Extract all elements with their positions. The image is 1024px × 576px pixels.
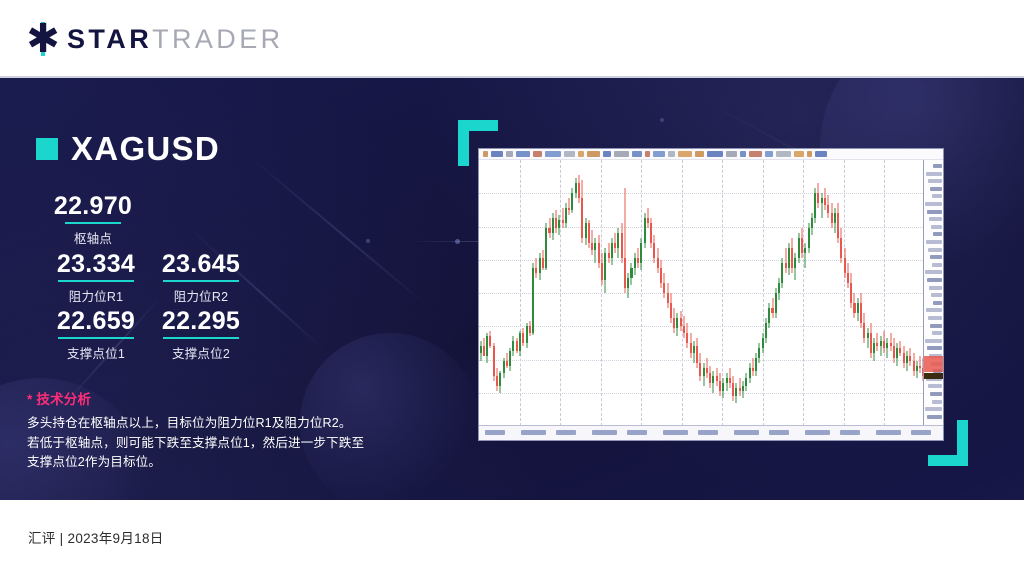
candlestick xyxy=(709,160,711,426)
candlestick xyxy=(814,160,816,426)
toolbar-chip[interactable] xyxy=(632,151,642,157)
candle-body xyxy=(686,333,688,343)
candle-body xyxy=(716,376,718,381)
candle-body xyxy=(876,343,878,346)
toolbar-chip[interactable] xyxy=(776,151,791,157)
candle-body xyxy=(903,353,905,363)
price-axis-tick xyxy=(927,278,942,282)
candlestick xyxy=(506,160,508,426)
candlestick xyxy=(690,160,692,426)
toolbar-chip[interactable] xyxy=(564,151,575,157)
level-label: 阻力位R1 xyxy=(35,286,157,305)
candle-body xyxy=(798,238,800,258)
candlestick xyxy=(834,160,836,426)
level-pivot: 22.970 枢轴点 xyxy=(35,193,151,247)
candle-body xyxy=(762,338,764,348)
candle-body xyxy=(630,268,632,278)
candle-body xyxy=(653,243,655,258)
toolbar-chip[interactable] xyxy=(545,151,561,157)
price-axis-tick xyxy=(925,270,942,274)
candlestick xyxy=(712,160,714,426)
candle-body xyxy=(752,368,754,371)
candle-body xyxy=(571,193,573,211)
candle-body xyxy=(489,336,491,346)
candlestick xyxy=(919,160,921,426)
candlestick xyxy=(831,160,833,426)
candle-body xyxy=(883,341,885,349)
candle-body xyxy=(909,356,911,361)
candle-body xyxy=(680,318,682,326)
candlestick xyxy=(735,160,737,426)
time-axis-label xyxy=(521,430,546,435)
candlestick xyxy=(808,160,810,426)
candlestick xyxy=(899,160,901,426)
candle-body xyxy=(637,258,639,263)
candlestick xyxy=(893,160,895,426)
candlestick xyxy=(732,160,734,426)
candlestick xyxy=(775,160,777,426)
candlestick xyxy=(680,160,682,426)
candle-body xyxy=(676,318,678,328)
candlestick xyxy=(788,160,790,426)
candlestick xyxy=(522,160,524,426)
candle-body xyxy=(827,205,829,213)
candle-body xyxy=(709,373,711,383)
toolbar-chip[interactable] xyxy=(491,151,503,157)
candlestick xyxy=(853,160,855,426)
candle-body xyxy=(808,228,810,248)
candle-body xyxy=(565,208,567,223)
level-resistance1: 23.334 阻力位R1 xyxy=(35,251,157,305)
candle-body xyxy=(765,323,767,338)
candlestick xyxy=(811,160,813,426)
candle-body xyxy=(699,363,701,376)
price-axis-tick xyxy=(925,202,942,206)
price-axis-highlight xyxy=(923,356,943,372)
candlestick xyxy=(552,160,554,426)
candle-body xyxy=(483,346,485,356)
time-axis-label xyxy=(556,430,576,435)
candlestick xyxy=(598,160,600,426)
level-underline xyxy=(58,280,134,282)
price-axis-tick xyxy=(928,248,942,252)
candle-wick xyxy=(562,208,563,228)
candle-body xyxy=(526,326,528,344)
chart-toolbar[interactable] xyxy=(479,149,943,160)
candle-wick xyxy=(920,356,921,374)
toolbar-chip[interactable] xyxy=(707,151,723,157)
candle-body xyxy=(516,341,518,351)
candlestick xyxy=(857,160,859,426)
candle-body xyxy=(880,341,882,346)
candle-wick xyxy=(595,238,596,263)
candlestick xyxy=(578,160,580,426)
candle-body xyxy=(886,343,888,348)
candle-body xyxy=(778,283,780,293)
toolbar-chip[interactable] xyxy=(645,151,650,157)
level-support2: 22.295 支撑点位2 xyxy=(140,308,262,362)
candlestick xyxy=(844,160,846,426)
candle-body xyxy=(522,333,524,343)
candle-body xyxy=(850,283,852,303)
brand-name-light: TRADER xyxy=(152,24,283,54)
toolbar-chip[interactable] xyxy=(794,151,804,157)
candlestick xyxy=(716,160,718,426)
candle-body xyxy=(683,326,685,334)
candlestick xyxy=(644,160,646,426)
candle-body xyxy=(545,228,547,268)
candle-body xyxy=(558,220,560,228)
candle-body xyxy=(749,368,751,378)
candle-body xyxy=(726,378,728,383)
candlestick xyxy=(768,160,770,426)
candle-body xyxy=(506,361,508,366)
candlestick xyxy=(683,160,685,426)
candle-body xyxy=(834,213,836,223)
candle-wick xyxy=(785,248,786,273)
candle-body xyxy=(532,268,534,333)
candlestick xyxy=(765,160,767,426)
candle-body xyxy=(493,346,495,376)
candle-body xyxy=(519,333,521,351)
price-axis-tick xyxy=(930,324,942,328)
candle-body xyxy=(853,303,855,313)
candlestick xyxy=(676,160,678,426)
candlestick xyxy=(693,160,695,426)
price-axis-tick xyxy=(926,172,942,176)
corner-bracket-bottom-right-horizontal xyxy=(928,455,968,466)
price-axis-tick xyxy=(933,232,942,236)
candle-body xyxy=(627,278,629,288)
candle-body xyxy=(598,243,600,263)
candle-wick xyxy=(739,378,740,396)
price-axis-tick xyxy=(927,415,942,419)
candle-body xyxy=(821,198,823,203)
candlestick xyxy=(739,160,741,426)
candle-wick xyxy=(887,338,888,358)
candle-body xyxy=(535,268,537,273)
candle-body xyxy=(794,258,796,268)
footer-text: 汇评 | 2023年9月18日 xyxy=(28,527,164,547)
candle-body xyxy=(509,351,511,366)
candle-body xyxy=(831,213,833,223)
candlestick xyxy=(548,160,550,426)
price-axis-tick xyxy=(925,407,942,411)
analysis-heading: * 技术分析 xyxy=(27,388,417,408)
toolbar-chip[interactable] xyxy=(678,151,692,157)
candlestick xyxy=(703,160,705,426)
candlestick xyxy=(706,160,708,426)
candle-body xyxy=(755,358,757,371)
candle-body xyxy=(693,346,695,354)
candlestick xyxy=(699,160,701,426)
candle-body xyxy=(899,348,901,353)
candle-body xyxy=(857,303,859,313)
candlestick xyxy=(778,160,780,426)
candlestick xyxy=(870,160,872,426)
toolbar-chip[interactable] xyxy=(614,151,629,157)
level-resistance2: 23.645 阻力位R2 xyxy=(140,251,262,305)
time-axis-label xyxy=(592,430,617,435)
candle-body xyxy=(837,213,839,238)
candle-body xyxy=(771,308,773,313)
candlestick xyxy=(624,160,626,426)
candlestick xyxy=(896,160,898,426)
candlestick xyxy=(667,160,669,426)
candle-body xyxy=(634,258,636,268)
candlestick xyxy=(581,160,583,426)
toolbar-chip[interactable] xyxy=(578,151,584,157)
poster-root: ✱ STARTRADER XAGUSD 22.9 xyxy=(0,0,1024,576)
candle-body xyxy=(644,218,646,243)
toolbar-chip[interactable] xyxy=(653,151,665,157)
price-axis-tick xyxy=(928,316,942,320)
level-label: 阻力位R2 xyxy=(140,286,262,305)
candle-body xyxy=(667,293,669,303)
candle-body xyxy=(735,388,737,396)
candle-body xyxy=(722,383,724,391)
toolbar-chip[interactable] xyxy=(815,151,827,157)
candle-body xyxy=(529,326,531,334)
candle-body xyxy=(906,356,908,364)
candlestick xyxy=(588,160,590,426)
candlestick xyxy=(791,160,793,426)
price-axis-tick xyxy=(927,210,942,214)
candlestick xyxy=(526,160,528,426)
candle-body xyxy=(775,293,777,313)
candle-body xyxy=(719,381,721,391)
candlestick xyxy=(558,160,560,426)
level-value: 22.970 xyxy=(35,193,151,219)
candlestick xyxy=(650,160,652,426)
price-axis[interactable] xyxy=(923,160,943,426)
level-value: 23.645 xyxy=(140,251,262,277)
candlestick-plot[interactable] xyxy=(479,160,923,426)
chart-plot-area[interactable] xyxy=(479,160,943,426)
candle-body xyxy=(591,243,593,251)
level-label: 支撑点位2 xyxy=(140,343,262,362)
candle-body xyxy=(624,258,626,288)
price-axis-tick xyxy=(926,240,942,244)
candlestick xyxy=(486,160,488,426)
candlestick xyxy=(608,160,610,426)
candle-body xyxy=(844,258,846,273)
time-axis-label xyxy=(805,430,830,435)
candlestick xyxy=(890,160,892,426)
price-axis-tick xyxy=(932,263,942,267)
candlestick xyxy=(601,160,603,426)
candle-wick xyxy=(821,193,822,218)
toolbar-chip[interactable] xyxy=(506,151,513,157)
candle-body xyxy=(555,218,557,228)
time-axis-label xyxy=(698,430,718,435)
candle-body xyxy=(640,243,642,263)
candle-body xyxy=(703,368,705,376)
candlestick xyxy=(611,160,613,426)
candle-body xyxy=(804,248,806,253)
level-value: 23.334 xyxy=(35,251,157,277)
price-axis-tick xyxy=(933,301,942,305)
toolbar-chip[interactable] xyxy=(668,151,675,157)
analysis-line-1: 多头持仓在枢轴点以上，目标位为阻力位R1及阻力位R2。 xyxy=(27,414,417,434)
time-axis[interactable] xyxy=(479,425,943,440)
candle-body xyxy=(791,248,793,268)
candlestick xyxy=(614,160,616,426)
candlestick xyxy=(722,160,724,426)
candlestick xyxy=(539,160,541,426)
toolbar-chip[interactable] xyxy=(603,151,611,157)
candle-body xyxy=(601,263,603,281)
candle-body xyxy=(863,323,865,338)
candle-body xyxy=(745,378,747,386)
candlestick xyxy=(489,160,491,426)
toolbar-chip[interactable] xyxy=(740,151,746,157)
candlestick xyxy=(630,160,632,426)
candle-body xyxy=(742,386,744,391)
candle-body xyxy=(893,346,895,359)
candlestick xyxy=(758,160,760,426)
level-underline xyxy=(58,337,134,339)
candlestick xyxy=(555,160,557,426)
toolbar-chip[interactable] xyxy=(587,151,600,157)
candlestick xyxy=(886,160,888,426)
candle-body xyxy=(650,223,652,243)
candle-body xyxy=(873,343,875,353)
candle-body xyxy=(647,218,649,223)
six-point-asterisk-star-icon: ✱ xyxy=(26,22,60,56)
candle-body xyxy=(480,346,482,354)
candlestick xyxy=(726,160,728,426)
candle-body xyxy=(824,198,826,206)
candlestick xyxy=(519,160,521,426)
candle-body xyxy=(817,193,819,203)
candle-body xyxy=(867,333,869,338)
brand-logo[interactable]: ✱ STARTRADER xyxy=(26,22,284,56)
level-label: 枢轴点 xyxy=(35,228,151,247)
toolbar-chip[interactable] xyxy=(516,151,530,157)
main-dark-panel: XAGUSD 22.970 枢轴点 23.334 阻力位R1 23.645 阻力… xyxy=(0,78,1024,500)
candle-body xyxy=(594,243,596,251)
candle-body xyxy=(814,193,816,218)
candlestick xyxy=(562,160,564,426)
candlestick xyxy=(529,160,531,426)
price-axis-tick xyxy=(928,384,942,388)
candlestick xyxy=(880,160,882,426)
candle-body xyxy=(673,318,675,328)
brand-name-bold: STAR xyxy=(67,24,152,54)
analysis-line-3: 支撑点位2作为目标位。 xyxy=(27,453,417,473)
left-content: XAGUSD 22.970 枢轴点 23.334 阻力位R1 23.645 阻力… xyxy=(0,78,440,500)
toolbar-chip[interactable] xyxy=(749,151,762,157)
analysis-line-2: 若低于枢轴点，则可能下跌至支撑点位1，然后进一步下跌至 xyxy=(27,434,417,454)
time-axis-label xyxy=(734,430,759,435)
candle-body xyxy=(496,376,498,386)
candlestick xyxy=(729,160,731,426)
candle-body xyxy=(860,303,862,323)
level-underline xyxy=(163,337,239,339)
candlestick xyxy=(762,160,764,426)
candle-body xyxy=(919,366,921,369)
price-chart[interactable] xyxy=(478,148,944,441)
candlestick xyxy=(749,160,751,426)
candlestick xyxy=(617,160,619,426)
candle-body xyxy=(811,218,813,228)
page-title: XAGUSD xyxy=(71,130,220,168)
candle-body xyxy=(578,183,580,198)
candlestick xyxy=(906,160,908,426)
corner-bracket-top-left-horizontal xyxy=(458,120,498,131)
candlestick xyxy=(591,160,593,426)
candle-wick xyxy=(805,243,806,268)
candlestick xyxy=(860,160,862,426)
candlestick xyxy=(653,160,655,426)
time-axis-label xyxy=(485,430,505,435)
candle-wick xyxy=(752,358,753,376)
candle-body xyxy=(840,238,842,258)
candlestick xyxy=(621,160,623,426)
candle-body xyxy=(890,343,892,346)
toolbar-chip[interactable] xyxy=(726,151,737,157)
candle-body xyxy=(663,283,665,293)
candlestick xyxy=(512,160,514,426)
price-axis-tick xyxy=(932,194,942,198)
candle-body xyxy=(657,258,659,268)
candlestick xyxy=(640,160,642,426)
candle-body xyxy=(870,333,872,353)
candlestick xyxy=(660,160,662,426)
square-marker-icon xyxy=(36,138,58,160)
candle-body xyxy=(608,253,610,258)
candle-wick xyxy=(880,336,881,356)
brand-wordmark: STARTRADER xyxy=(67,24,284,55)
candlestick xyxy=(840,160,842,426)
candlestick xyxy=(916,160,918,426)
time-axis-label xyxy=(840,430,860,435)
candle-body xyxy=(548,228,550,233)
toolbar-chip[interactable] xyxy=(483,151,488,157)
candle-body xyxy=(552,218,554,233)
toolbar-chip[interactable] xyxy=(807,151,812,157)
candle-body xyxy=(768,308,770,323)
candle-body xyxy=(499,373,501,386)
candle-body xyxy=(712,376,714,384)
toolbar-chip[interactable] xyxy=(533,151,542,157)
candlestick xyxy=(627,160,629,426)
toolbar-chip[interactable] xyxy=(765,151,773,157)
candlestick xyxy=(801,160,803,426)
candle-body xyxy=(568,208,570,211)
candlestick xyxy=(496,160,498,426)
candle-body xyxy=(916,366,918,371)
price-axis-tick xyxy=(932,331,942,335)
candlestick xyxy=(903,160,905,426)
candlestick xyxy=(752,160,754,426)
candle-body xyxy=(562,220,564,223)
decor-dot-3 xyxy=(660,118,664,122)
star-glyph: ✱ xyxy=(26,22,60,56)
price-axis-tick xyxy=(929,286,942,290)
candlestick xyxy=(542,160,544,426)
candle-body xyxy=(785,263,787,268)
candle-body xyxy=(539,258,541,273)
page-footer: 汇评 | 2023年9月18日 xyxy=(0,500,1024,576)
candlestick xyxy=(686,160,688,426)
candlestick xyxy=(594,160,596,426)
toolbar-chip[interactable] xyxy=(695,151,704,157)
price-axis-tick xyxy=(926,308,942,312)
candlestick xyxy=(585,160,587,426)
candle-body xyxy=(758,348,760,358)
